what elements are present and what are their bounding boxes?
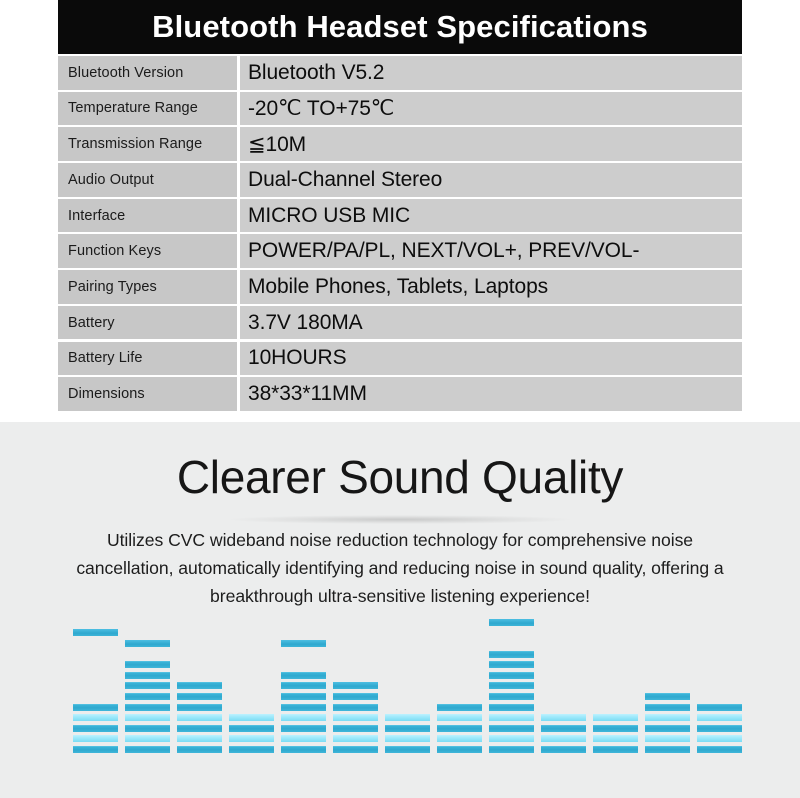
- equalizer-bar: [489, 661, 534, 668]
- equalizer-column: [645, 603, 690, 753]
- equalizer-bar: [281, 682, 326, 689]
- equalizer-bar: [281, 735, 326, 742]
- equalizer-bar: [125, 714, 170, 721]
- equalizer-bar: [125, 704, 170, 711]
- equalizer-peak-bar: [489, 619, 534, 626]
- spec-row: Bluetooth VersionBluetooth V5.2: [58, 56, 742, 90]
- spec-row: Pairing TypesMobile Phones, Tablets, Lap…: [58, 270, 742, 304]
- equalizer-bar: [73, 704, 118, 711]
- equalizer-column: [437, 603, 482, 753]
- equalizer-bar: [489, 693, 534, 700]
- sound-quality-heading: Clearer Sound Quality: [0, 450, 800, 504]
- equalizer-bar: [541, 735, 586, 742]
- equalizer-bar: [229, 746, 274, 753]
- equalizer-column: [281, 603, 326, 753]
- spec-row-value: POWER/PA/PL, NEXT/VOL+, PREV/VOL-: [240, 234, 742, 268]
- equalizer-bar: [593, 714, 638, 721]
- equalizer-bar: [73, 725, 118, 732]
- spec-row-label: Audio Output: [58, 163, 237, 197]
- equalizer-bar: [125, 693, 170, 700]
- equalizer-bar: [697, 735, 742, 742]
- specifications-section: Bluetooth Headset Specifications Bluetoo…: [0, 0, 800, 422]
- spec-row-value: Dual-Channel Stereo: [240, 163, 742, 197]
- spec-row-label: Dimensions: [58, 377, 237, 411]
- equalizer-bar: [281, 746, 326, 753]
- equalizer-bar: [177, 704, 222, 711]
- equalizer-bar: [645, 693, 690, 700]
- spec-row-value: -20℃ TO+75℃: [240, 92, 742, 126]
- equalizer-bar: [385, 725, 430, 732]
- equalizer-bar: [73, 735, 118, 742]
- spec-row-label: Battery: [58, 306, 237, 340]
- spec-table: Bluetooth VersionBluetooth V5.2Temperatu…: [58, 56, 742, 413]
- equalizer-bar: [385, 746, 430, 753]
- spec-row-value: ≦10M: [240, 127, 742, 161]
- spec-row-value: 10HOURS: [240, 342, 742, 376]
- equalizer-column: [541, 603, 586, 753]
- spec-row: Battery3.7V 180MA: [58, 306, 742, 340]
- equalizer-column: [125, 603, 170, 753]
- equalizer-visualization: [0, 617, 800, 767]
- equalizer-bar: [177, 682, 222, 689]
- equalizer-bar: [489, 714, 534, 721]
- equalizer-bar: [437, 725, 482, 732]
- equalizer-bar: [333, 693, 378, 700]
- spec-row-value: MICRO USB MIC: [240, 199, 742, 233]
- spec-row: Audio OutputDual-Channel Stereo: [58, 163, 742, 197]
- equalizer-bar: [177, 693, 222, 700]
- equalizer-bar: [125, 661, 170, 668]
- equalizer-bar: [333, 704, 378, 711]
- equalizer-peak-bar: [281, 640, 326, 647]
- equalizer-bar: [229, 735, 274, 742]
- spec-row: InterfaceMICRO USB MIC: [58, 199, 742, 233]
- equalizer-bar: [281, 714, 326, 721]
- equalizer-column: [73, 603, 118, 753]
- equalizer-bar: [645, 735, 690, 742]
- equalizer-bar: [333, 746, 378, 753]
- equalizer-bar: [489, 725, 534, 732]
- equalizer-column: [229, 603, 274, 753]
- spec-row-label: Interface: [58, 199, 237, 233]
- equalizer-bar: [281, 693, 326, 700]
- equalizer-bar: [281, 672, 326, 679]
- sound-quality-description: Utilizes CVC wideband noise reduction te…: [60, 526, 740, 610]
- spec-row-label: Bluetooth Version: [58, 56, 237, 90]
- equalizer-bar: [489, 704, 534, 711]
- equalizer-bar: [697, 725, 742, 732]
- spec-row-value: Bluetooth V5.2: [240, 56, 742, 90]
- equalizer-bar: [73, 746, 118, 753]
- equalizer-bar: [697, 746, 742, 753]
- spec-row: Function KeysPOWER/PA/PL, NEXT/VOL+, PRE…: [58, 234, 742, 268]
- equalizer-peak-bar: [125, 640, 170, 647]
- equalizer-bar: [177, 714, 222, 721]
- equalizer-column: [697, 603, 742, 753]
- equalizer-bar: [489, 651, 534, 658]
- equalizer-bar: [385, 735, 430, 742]
- equalizer-peak-bar: [73, 629, 118, 636]
- equalizer-bar: [489, 735, 534, 742]
- equalizer-column: [333, 603, 378, 753]
- equalizer-column: [385, 603, 430, 753]
- equalizer-bar: [541, 714, 586, 721]
- equalizer-bar: [281, 725, 326, 732]
- equalizer-bar: [541, 746, 586, 753]
- equalizer-bar: [229, 725, 274, 732]
- equalizer-bar: [125, 725, 170, 732]
- equalizer-bar: [437, 746, 482, 753]
- equalizer-bar: [593, 735, 638, 742]
- equalizer-bar: [489, 672, 534, 679]
- equalizer-bar: [593, 746, 638, 753]
- equalizer-bar: [697, 714, 742, 721]
- equalizer-bar: [645, 704, 690, 711]
- spec-row-label: Temperature Range: [58, 92, 237, 126]
- equalizer-bar: [645, 725, 690, 732]
- equalizer-bar: [73, 714, 118, 721]
- equalizer-bar: [333, 725, 378, 732]
- sound-quality-section: Clearer Sound Quality Utilizes CVC wideb…: [0, 422, 800, 798]
- equalizer-bar: [489, 682, 534, 689]
- spec-row: Transmission Range≦10M: [58, 127, 742, 161]
- heading-shadow-decoration: [230, 515, 570, 524]
- equalizer-bar: [593, 725, 638, 732]
- spec-table-title: Bluetooth Headset Specifications: [58, 0, 742, 54]
- equalizer-bar: [541, 725, 586, 732]
- equalizer-bar: [125, 682, 170, 689]
- equalizer-bar: [177, 735, 222, 742]
- equalizer-column: [177, 603, 222, 753]
- equalizer-bar: [697, 704, 742, 711]
- equalizer-peak-bar: [333, 682, 378, 689]
- spec-row-label: Battery Life: [58, 342, 237, 376]
- equalizer-bar: [281, 704, 326, 711]
- spec-row-value: Mobile Phones, Tablets, Laptops: [240, 270, 742, 304]
- equalizer-column: [489, 603, 534, 753]
- equalizer-bar: [125, 735, 170, 742]
- equalizer-bar: [645, 746, 690, 753]
- equalizer-bar: [333, 714, 378, 721]
- equalizer-bar: [229, 714, 274, 721]
- equalizer-bar: [437, 714, 482, 721]
- equalizer-bar: [177, 725, 222, 732]
- equalizer-bar: [437, 704, 482, 711]
- equalizer-column: [593, 603, 638, 753]
- equalizer-bar: [385, 714, 430, 721]
- spec-row: Temperature Range-20℃ TO+75℃: [58, 92, 742, 126]
- spec-row: Dimensions38*33*11MM: [58, 377, 742, 411]
- equalizer-bar: [333, 735, 378, 742]
- spec-row-value: 38*33*11MM: [240, 377, 742, 411]
- equalizer-bar: [437, 735, 482, 742]
- equalizer-bar: [125, 746, 170, 753]
- equalizer-bar: [645, 714, 690, 721]
- product-infographic-page: Bluetooth Headset Specifications Bluetoo…: [0, 0, 800, 798]
- spec-row: Battery Life10HOURS: [58, 342, 742, 376]
- equalizer-bar: [177, 746, 222, 753]
- spec-row-label: Pairing Types: [58, 270, 237, 304]
- spec-row-label: Function Keys: [58, 234, 237, 268]
- equalizer-bar: [125, 672, 170, 679]
- equalizer-bar: [489, 746, 534, 753]
- spec-row-label: Transmission Range: [58, 127, 237, 161]
- spec-row-value: 3.7V 180MA: [240, 306, 742, 340]
